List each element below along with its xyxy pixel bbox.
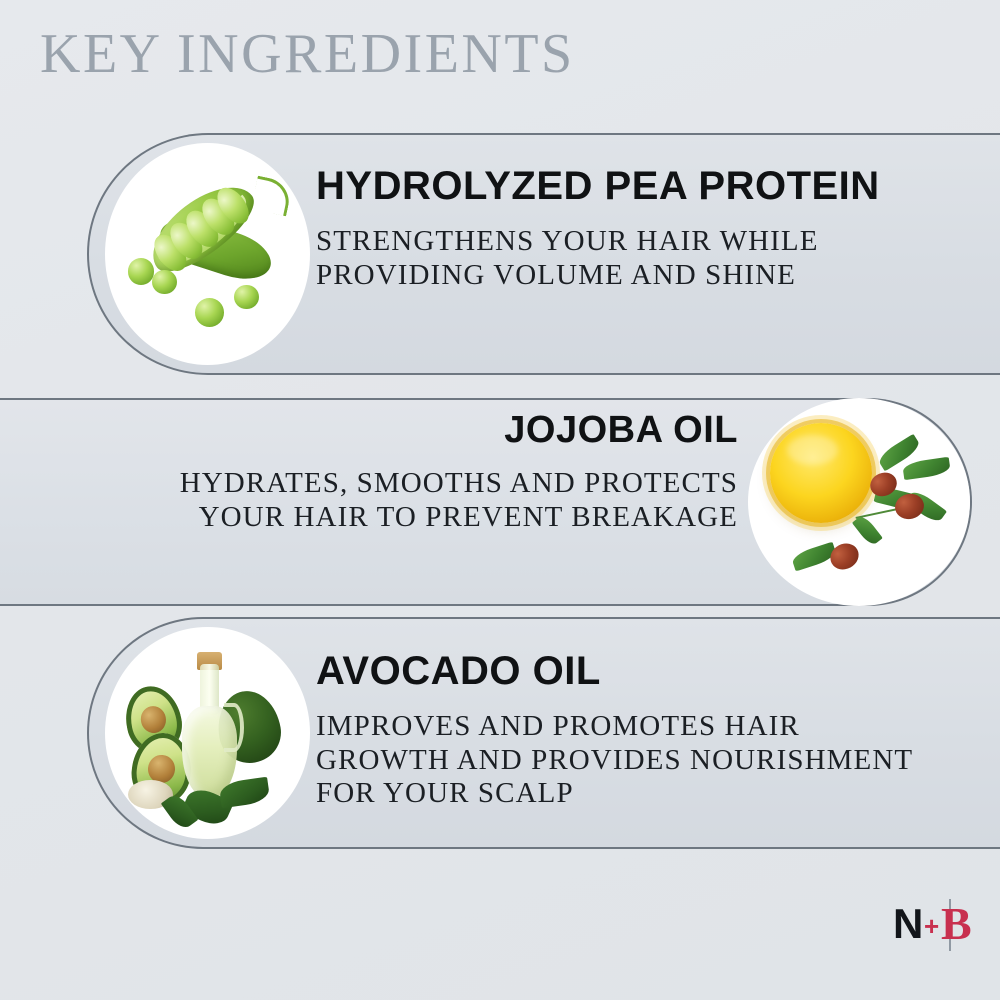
ingredient-description: HYDRATES, SMOOTHS AND PROTECTS YOUR HAIR… bbox=[180, 467, 738, 534]
description-line: GROWTH AND PROVIDES NOURISHMENT bbox=[316, 744, 913, 778]
ingredient-text-block-1: HYDROLYZED PEA PROTEIN STRENGTHENS YOUR … bbox=[316, 165, 880, 292]
infographic-page: KEY INGREDIENTS HYDROLYZED PEA PROTEIN S… bbox=[0, 0, 1000, 1000]
jojoba-leaf-icon bbox=[853, 513, 884, 546]
pea-pods-photo bbox=[105, 143, 310, 365]
description-line: PROVIDING VOLUME AND SHINE bbox=[316, 259, 880, 293]
pea-illustration bbox=[105, 143, 310, 365]
description-line: FOR YOUR SCALP bbox=[316, 777, 913, 811]
ingredient-title: AVOCADO OIL bbox=[316, 650, 913, 692]
jojoba-illustration bbox=[748, 398, 970, 606]
ingredient-description: IMPROVES AND PROMOTES HAIR GROWTH AND PR… bbox=[316, 710, 913, 811]
loose-pea-icon bbox=[152, 270, 177, 294]
ingredient-text-block-2: JOJOBA OIL HYDRATES, SMOOTHS AND PROTECT… bbox=[180, 411, 738, 534]
description-line: HYDRATES, SMOOTHS AND PROTECTS bbox=[180, 467, 738, 501]
logo-plus-icon: + bbox=[924, 913, 939, 939]
logo-letter-n: N bbox=[893, 903, 923, 945]
ingredient-description: STRENGTHENS YOUR HAIR WHILE PROVIDING VO… bbox=[316, 225, 880, 292]
jojoba-oil-bowl-photo bbox=[748, 398, 970, 606]
avocado-oil-bottle-photo bbox=[105, 627, 310, 839]
ingredient-title: HYDROLYZED PEA PROTEIN bbox=[316, 165, 880, 207]
description-line: STRENGTHENS YOUR HAIR WHILE bbox=[316, 225, 880, 259]
bottle-handle-icon bbox=[224, 703, 244, 753]
jojoba-leaf-icon bbox=[902, 457, 950, 480]
brand-logo: N + B bbox=[893, 901, 979, 957]
description-line: YOUR HAIR TO PREVENT BREAKAGE bbox=[180, 501, 738, 535]
logo-letter-b: B bbox=[941, 901, 972, 947]
avocado-pit-icon bbox=[138, 704, 169, 736]
description-line: IMPROVES AND PROMOTES HAIR bbox=[316, 710, 913, 744]
ingredient-title: JOJOBA OIL bbox=[180, 411, 738, 451]
avocado-illustration bbox=[105, 627, 310, 839]
loose-pea-icon bbox=[195, 298, 224, 327]
page-title: KEY INGREDIENTS bbox=[40, 24, 575, 86]
pea-tendril-icon bbox=[251, 175, 293, 216]
loose-pea-icon bbox=[234, 285, 259, 309]
oil-bottle-icon bbox=[179, 652, 241, 800]
ingredient-text-block-3: AVOCADO OIL IMPROVES AND PROMOTES HAIR G… bbox=[316, 650, 913, 811]
loose-pea-icon bbox=[128, 258, 155, 285]
oil-bowl-icon bbox=[770, 423, 872, 523]
